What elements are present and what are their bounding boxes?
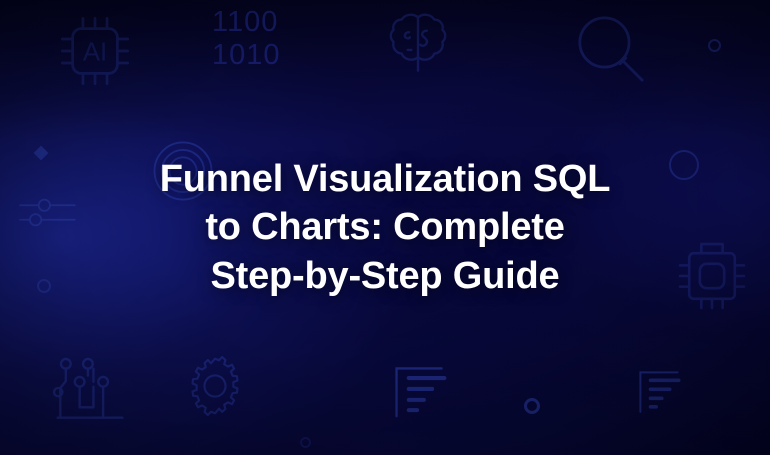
title-line-1: Funnel Visualization SQL <box>160 158 611 200</box>
hero-banner: AI 1100 1010 <box>0 0 770 455</box>
title-line-2: to Charts: Complete <box>205 206 564 248</box>
title-container: Funnel Visualization SQL to Charts: Comp… <box>0 0 770 455</box>
title-line-3: Step-by-Step Guide <box>211 255 560 297</box>
page-title: Funnel Visualization SQL to Charts: Comp… <box>160 155 611 300</box>
